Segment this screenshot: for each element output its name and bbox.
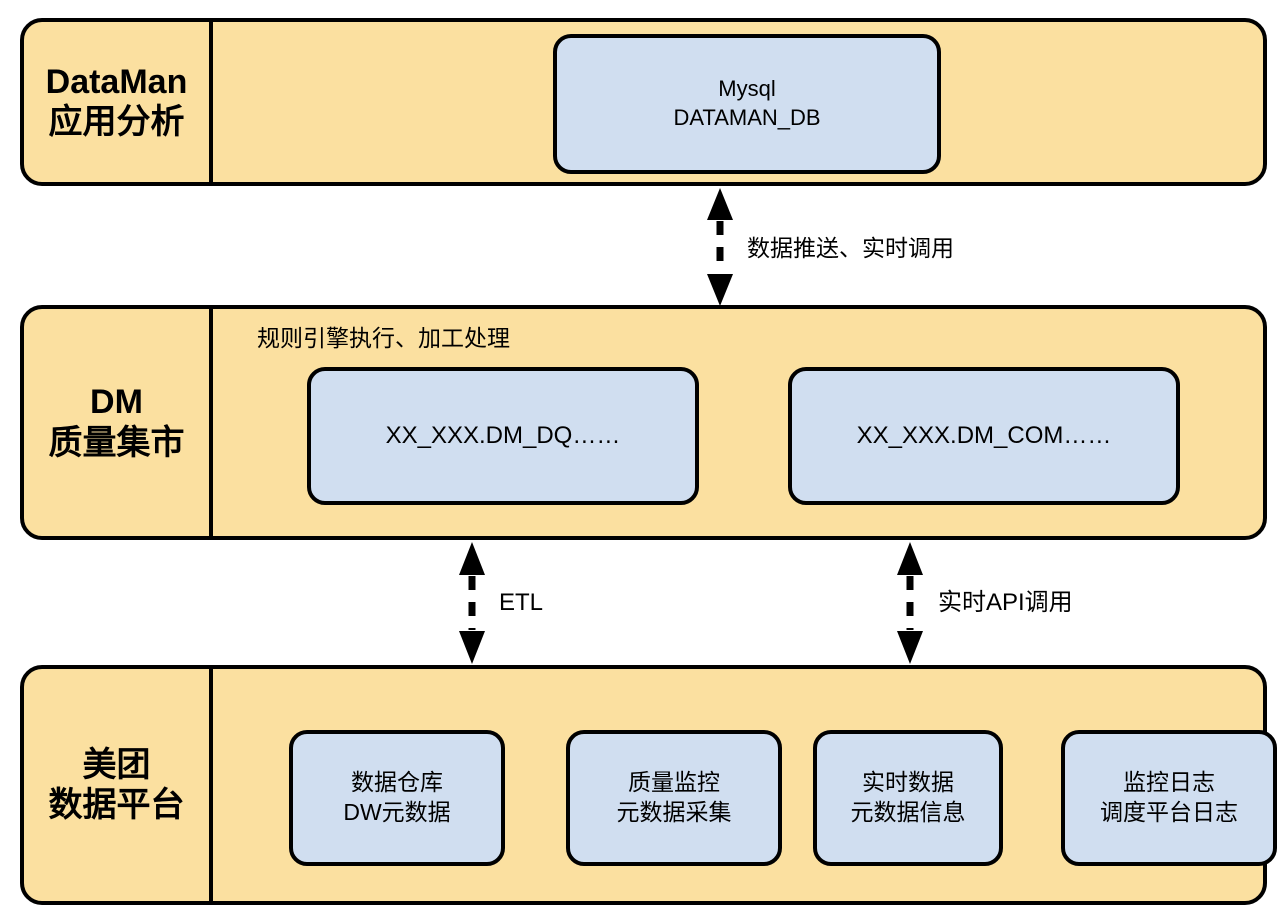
box-monitor-log[interactable]: 监控日志 调度平台日志 bbox=[1061, 730, 1277, 866]
layer-panel-dm: DM 质量集市 规则引擎执行、加工处理 XX_XXX.DM_DQ…… XX_XX… bbox=[20, 305, 1267, 540]
connector-label-dataman-dm: 数据推送、实时调用 bbox=[747, 237, 954, 260]
box-dm-com[interactable]: XX_XXX.DM_COM…… bbox=[788, 367, 1180, 505]
box-dw-metadata[interactable]: 数据仓库 DW元数据 bbox=[289, 730, 505, 866]
layer-panel-dataman: DataMan 应用分析 Mysql DATAMAN_DB bbox=[20, 18, 1267, 186]
layer-label-dataman: DataMan 应用分析 bbox=[24, 22, 209, 182]
connector-label-etl: ETL bbox=[499, 591, 543, 615]
layer-label-dm: DM 质量集市 bbox=[24, 309, 209, 536]
layer-label-line-2: 数据平台 bbox=[49, 785, 185, 825]
layer-label-meituan-platform: 美团 数据平台 bbox=[24, 669, 209, 901]
layer-body-dm: 规则引擎执行、加工处理 XX_XXX.DM_DQ…… XX_XXX.DM_COM… bbox=[213, 309, 1263, 536]
box-dm-dq[interactable]: XX_XXX.DM_DQ…… bbox=[307, 367, 699, 505]
layer-note-dm: 规则引擎执行、加工处理 bbox=[257, 319, 510, 353]
layer-body-dataman: Mysql DATAMAN_DB bbox=[213, 22, 1263, 182]
diagram-canvas: DataMan 应用分析 Mysql DATAMAN_DB 数据推送、实时调用 … bbox=[0, 0, 1286, 920]
box-quality-monitor[interactable]: 质量监控 元数据采集 bbox=[566, 730, 782, 866]
layer-label-line-2: 质量集市 bbox=[49, 423, 185, 463]
connector-dm-platform-etl bbox=[454, 542, 490, 664]
layer-label-line-1: 美团 bbox=[83, 745, 151, 785]
layer-body-meituan-platform: 数据仓库 DW元数据 质量监控 元数据采集 实时数据 元数据信息 监控日志 调度… bbox=[213, 669, 1263, 901]
connector-label-api: 实时API调用 bbox=[938, 591, 1073, 615]
box-realtime-data[interactable]: 实时数据 元数据信息 bbox=[813, 730, 1003, 866]
layer-label-line-1: DataMan bbox=[46, 62, 188, 102]
layer-panel-meituan-platform: 美团 数据平台 数据仓库 DW元数据 质量监控 元数据采集 实时数据 元数据信息… bbox=[20, 665, 1267, 905]
connector-dm-platform-api bbox=[892, 542, 928, 664]
layer-label-line-1: DM bbox=[90, 382, 143, 422]
connector-dataman-dm bbox=[702, 188, 738, 306]
box-mysql-dataman-db[interactable]: Mysql DATAMAN_DB bbox=[553, 34, 941, 174]
layer-label-line-2: 应用分析 bbox=[49, 102, 185, 142]
